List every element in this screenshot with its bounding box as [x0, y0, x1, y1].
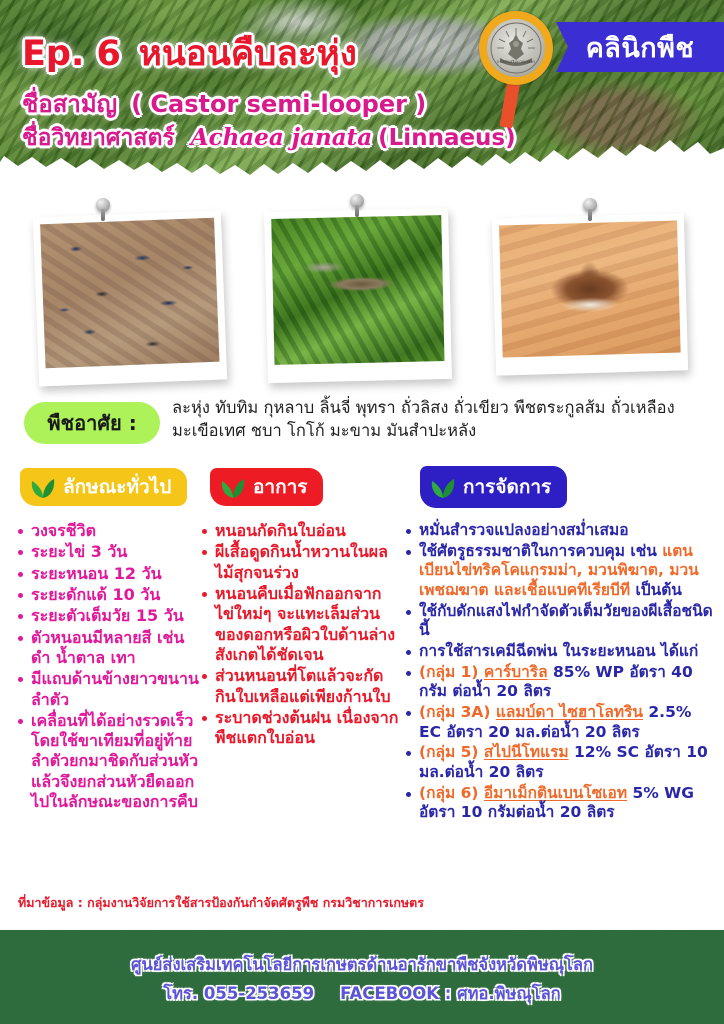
- photo-image-2: [271, 215, 444, 365]
- svg-text:กรมส่งเสริมการเกษตร: กรมส่งเสริมการเกษตร: [497, 59, 536, 64]
- page-title: Ep. 6หนอนคืบละหุ่ง: [22, 26, 357, 81]
- symptoms-list-item: ผีเสื้อดูดกินน้ำหวานในผลไม้สุกจนร่วง: [200, 542, 400, 583]
- general-list-item: ระยะไข่ 3 วัน: [16, 542, 202, 562]
- general-list-item: ระยะดักแด้ 10 วัน: [16, 585, 202, 605]
- episode-number: Ep. 6: [22, 34, 121, 74]
- column-header-general: ลักษณะทั่วไป: [20, 468, 187, 506]
- management-list-item: (กลุ่ม 3A) แลมบ์ดา ไซฮาโลทริน 2.5% EC อั…: [404, 703, 716, 742]
- clinic-ribbon-banner: คลินิกพืช: [556, 22, 724, 72]
- infographic-poster: Ep. 6หนอนคืบละหุ่ง ชื่อสามัญ( Castor sem…: [0, 0, 724, 1024]
- government-seal-icon: กรมส่งเสริมการเกษตร: [479, 11, 553, 85]
- host-plants-label: พืชอาศัย :: [47, 407, 136, 439]
- photo-caterpillars-on-ground: [33, 210, 227, 386]
- management-text-post: เป็นต้น: [630, 581, 682, 599]
- column-header-label-symptoms: อาการ: [253, 472, 307, 502]
- management-list: หมั่นสำรวจแปลงอย่างสม่ำเสมอใช้ศัตรูธรรมช…: [404, 521, 716, 823]
- chemical-group-code: (กลุ่ม 6): [419, 784, 484, 802]
- host-plants-badge: พืชอาศัย :: [24, 402, 160, 444]
- pushpin-icon-1: [96, 198, 110, 212]
- header-banner: Ep. 6หนอนคืบละหุ่ง ชื่อสามัญ( Castor sem…: [0, 0, 724, 178]
- chemical-formulation: 12% SC: [569, 743, 645, 761]
- scientific-name-value: Achaea janata: [191, 124, 372, 151]
- general-list-item: ระยะหนอน 12 วัน: [16, 564, 202, 584]
- general-list-item: วงจรชีวิต: [16, 521, 202, 541]
- management-list-item: ใช้ศัตรูธรรมชาติในการควบคุม เช่น แตนเบีย…: [404, 542, 716, 601]
- chemical-active-ingredient: อีมาเม็กตินเบนโซเอท: [484, 784, 627, 802]
- pushpin-icon-2: [350, 194, 364, 208]
- symptoms-list-item: ส่วนหนอนที่โตแล้วจะกัดกินใบเหลือแต่เพียง…: [200, 666, 400, 707]
- photo-image-1: [40, 218, 219, 369]
- chemical-formulation: 85% WP: [548, 663, 630, 681]
- management-list-item: การใช้สารเคมีฉีดพ่น ในระยะหนอน ได้แก่: [404, 642, 716, 662]
- chemical-group-code: (กลุ่ม 5): [419, 743, 484, 761]
- general-list-item: มีแถบด้านข้างยาวขนานลำตัว: [16, 669, 202, 710]
- management-list-item: ใช้กับดักแสงไฟกำจัดตัวเต็มวัยของผีเสื้อช…: [404, 602, 716, 641]
- chemical-active-ingredient: แลมบ์ดา ไซฮาโลทริน: [496, 703, 643, 721]
- grass-edge-decoration: [0, 930, 724, 942]
- footer-facebook: FACEBOOK : ศทอ.พิษณุโลก: [340, 984, 561, 1003]
- management-text-pre: ใช้ศัตรูธรรมชาติในการควบคุม เช่น: [419, 542, 662, 560]
- common-name-row: ชื่อสามัญ( Castor semi-looper ): [22, 84, 426, 123]
- management-list-item: หมั่นสำรวจแปลงอย่างสม่ำเสมอ: [404, 521, 716, 541]
- pest-thai-name: หนอนคืบละหุ่ง: [139, 34, 357, 74]
- scientific-name-author: (Linnaeus): [378, 125, 516, 151]
- photo-image-3: [499, 221, 681, 358]
- chemical-group-code: (กลุ่ม 3A): [419, 703, 496, 721]
- general-list-item: เคลื่อนที่ได้อย่างรวดเร็วโดยใช้ขาเทียมที…: [16, 711, 202, 813]
- common-name-label: ชื่อสามัญ: [22, 90, 117, 118]
- column-management: หมั่นสำรวจแปลงอย่างสม่ำเสมอใช้ศัตรูธรรมช…: [404, 521, 716, 824]
- symptoms-list-item: หนอนคืบเมื่อฟักออกจากไข่ใหม่ๆ จะแทะเล็มส…: [200, 584, 400, 665]
- column-header-management: การจัดการ: [420, 466, 567, 508]
- chemical-active-ingredient: สไปนีโทแรม: [484, 743, 569, 761]
- chemical-dosage-rate: อัตรา 20 มล.ต่อน้ำ 20 ลิตร: [446, 723, 639, 741]
- column-symptoms: หนอนกัดกินใบอ่อนผีเสื้อดูดกินน้ำหวานในผล…: [200, 521, 400, 749]
- leaf-icon-management: [430, 475, 456, 499]
- column-header-label-management: การจัดการ: [463, 472, 551, 502]
- chemical-active-ingredient: คาร์บาริล: [484, 663, 548, 681]
- footer-contact: โทร. 055-253659FACEBOOK : ศทอ.พิษณุโลก: [0, 981, 724, 1007]
- management-list-item: (กลุ่ม 6) อีมาเม็กตินเบนโซเอท 5% WG อัตร…: [404, 784, 716, 823]
- photo-caterpillar-on-leaf: [264, 208, 452, 383]
- pushpin-icon-3: [583, 198, 597, 212]
- symptoms-list: หนอนกัดกินใบอ่อนผีเสื้อดูดกินน้ำหวานในผล…: [200, 521, 400, 748]
- photo-adult-moth: [492, 213, 688, 375]
- scientific-name-label: ชื่อวิทยาศาสตร์: [22, 125, 175, 151]
- scientific-name-row: ชื่อวิทยาศาสตร์Achaea janata(Linnaeus): [22, 120, 516, 156]
- management-list-item: (กลุ่ม 1) คาร์บาริล 85% WP อัตรา 40 กรัม…: [404, 663, 716, 702]
- footer-organization: ศูนย์ส่งเสริมเทคโนโลยีการเกษตรด้านอารักข…: [0, 952, 724, 978]
- general-list-item: ตัวหนอนมีหลายสี เช่น ดำ น้ำตาล เทา: [16, 628, 202, 669]
- photo-strip: [0, 182, 724, 387]
- source-credit: ที่มาข้อมูล : กลุ่มงานวิจัยการใช้สารป้อง…: [18, 893, 424, 913]
- chemical-dosage-rate: อัตรา 10 กรัมต่อน้ำ 20 ลิตร: [419, 803, 615, 821]
- leaf-icon-symptoms: [220, 475, 246, 499]
- chemical-group-code: (กลุ่ม 1): [419, 663, 484, 681]
- clinic-ribbon-label: คลินิกพืช: [586, 26, 695, 69]
- management-list-item: (กลุ่ม 5) สไปนีโทแรม 12% SC อัตรา 10 มล.…: [404, 743, 716, 782]
- symptoms-list-item: หนอนกัดกินใบอ่อน: [200, 521, 400, 541]
- common-name-value: ( Castor semi-looper ): [131, 90, 426, 118]
- leaf-icon-general: [30, 475, 56, 499]
- garuda-emblem-icon: กรมส่งเสริมการเกษตร: [490, 22, 542, 74]
- host-plants-text: ละหุ่ง ทับทิม กุหลาบ ลิ้นจี่ พุทรา ถั่วล…: [172, 396, 716, 443]
- column-general-characteristics: วงจรชีวิตระยะไข่ 3 วันระยะหนอน 12 วันระย…: [16, 521, 202, 813]
- column-header-symptoms: อาการ: [210, 468, 323, 506]
- footer-phone: โทร. 055-253659: [163, 984, 314, 1003]
- column-header-label-general: ลักษณะทั่วไป: [63, 472, 171, 502]
- general-list-item: ระยะตัวเต็มวัย 15 วัน: [16, 606, 202, 626]
- chemical-formulation: 5% WG: [627, 784, 694, 802]
- general-characteristics-list: วงจรชีวิตระยะไข่ 3 วันระยะหนอน 12 วันระย…: [16, 521, 202, 812]
- symptoms-list-item: ระบาดช่วงต้นฝน เนื่องจากพืชแตกใบอ่อน: [200, 708, 400, 749]
